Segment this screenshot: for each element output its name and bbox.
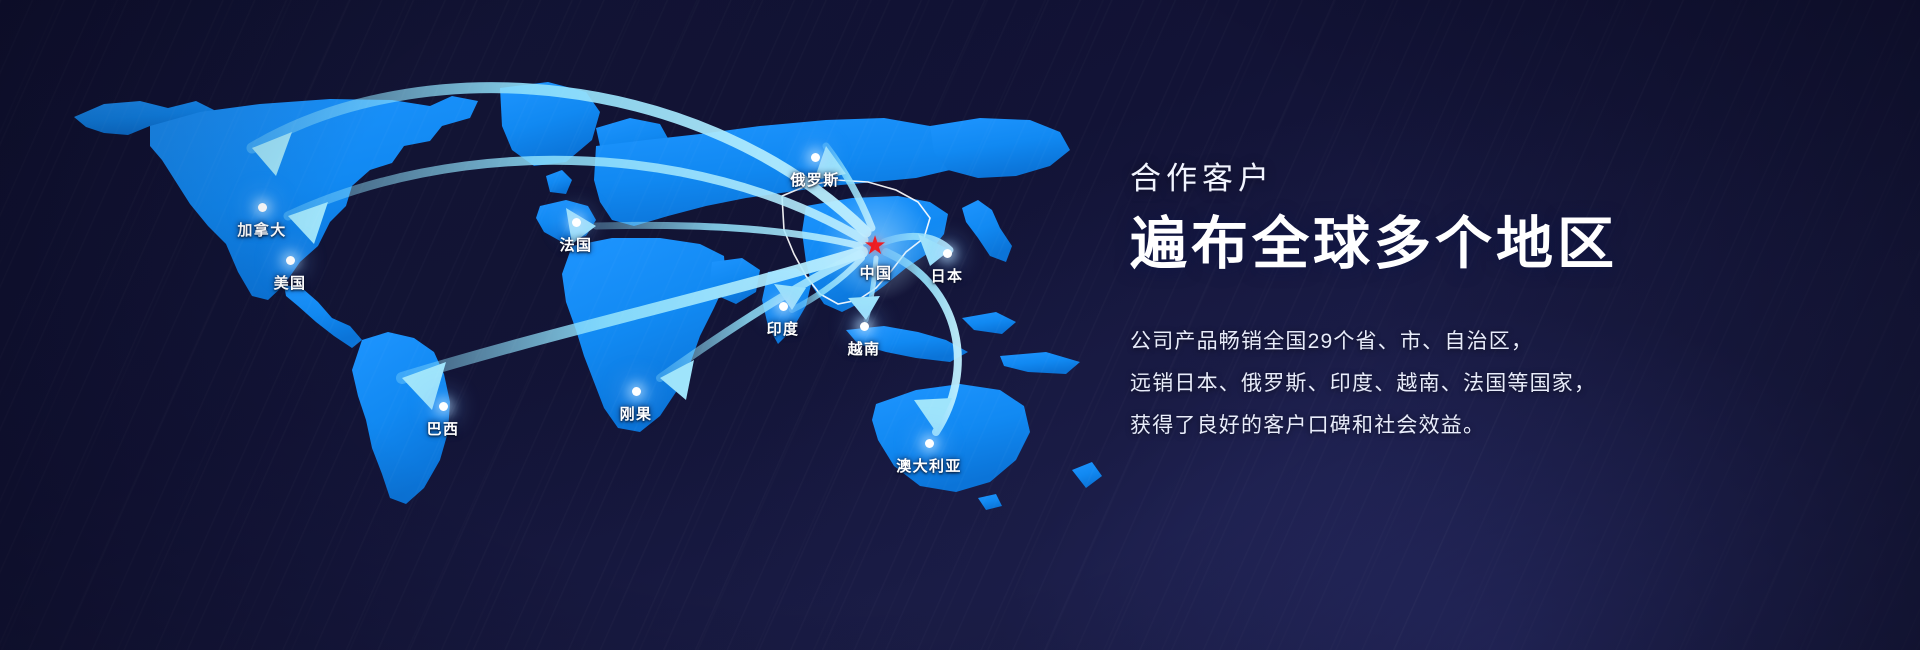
map-label-france: 法国 xyxy=(560,234,593,255)
map-marker-dot-india[interactable] xyxy=(779,302,788,311)
landmasses xyxy=(74,82,1102,510)
map-marker-dot-france[interactable] xyxy=(572,218,581,227)
description-line-3: 获得了良好的客户口碑和社会效益。 xyxy=(1130,405,1870,447)
eyebrow-title: 合作客户 xyxy=(1130,160,1870,199)
description-line-2: 远销日本、俄罗斯、印度、越南、法国等国家， xyxy=(1130,363,1870,405)
map-label-australia: 澳大利亚 xyxy=(896,455,962,476)
map-label-canada: 加拿大 xyxy=(237,219,286,240)
description-line-1: 公司产品畅销全国29个省、市、自治区， xyxy=(1130,321,1870,363)
world-map-svg xyxy=(0,0,1180,650)
map-label-india: 印度 xyxy=(767,318,800,339)
map-marker-dot-congo[interactable] xyxy=(632,387,641,396)
map-marker-dot-vietnam[interactable] xyxy=(860,322,869,331)
map-label-vietnam: 越南 xyxy=(848,338,881,359)
map-label-brazil: 巴西 xyxy=(427,418,460,439)
world-map: 加拿大美国巴西法国刚果俄罗斯印度中国日本越南澳大利亚 ★ xyxy=(0,0,1180,650)
map-marker-dot-canada[interactable] xyxy=(258,203,267,212)
map-label-japan: 日本 xyxy=(931,265,964,286)
page-title: 遍布全球多个地区 xyxy=(1130,213,1870,277)
map-label-congo: 刚果 xyxy=(620,403,653,424)
map-marker-dot-russia[interactable] xyxy=(811,153,820,162)
map-label-china: 中国 xyxy=(860,262,893,283)
map-marker-dot-australia[interactable] xyxy=(925,439,934,448)
map-marker-dot-japan[interactable] xyxy=(943,249,952,258)
global-clients-banner: 加拿大美国巴西法国刚果俄罗斯印度中国日本越南澳大利亚 ★ 合作客户 遍布全球多个… xyxy=(0,0,1920,650)
map-marker-dot-usa[interactable] xyxy=(286,256,295,265)
map-label-russia: 俄罗斯 xyxy=(790,169,839,190)
description-paragraph: 公司产品畅销全国29个省、市、自治区，远销日本、俄罗斯、印度、越南、法国等国家，… xyxy=(1130,321,1870,447)
map-marker-dot-brazil[interactable] xyxy=(439,402,448,411)
banner-copy: 合作客户 遍布全球多个地区 公司产品畅销全国29个省、市、自治区，远销日本、俄罗… xyxy=(1130,160,1870,447)
map-label-usa: 美国 xyxy=(274,272,307,293)
